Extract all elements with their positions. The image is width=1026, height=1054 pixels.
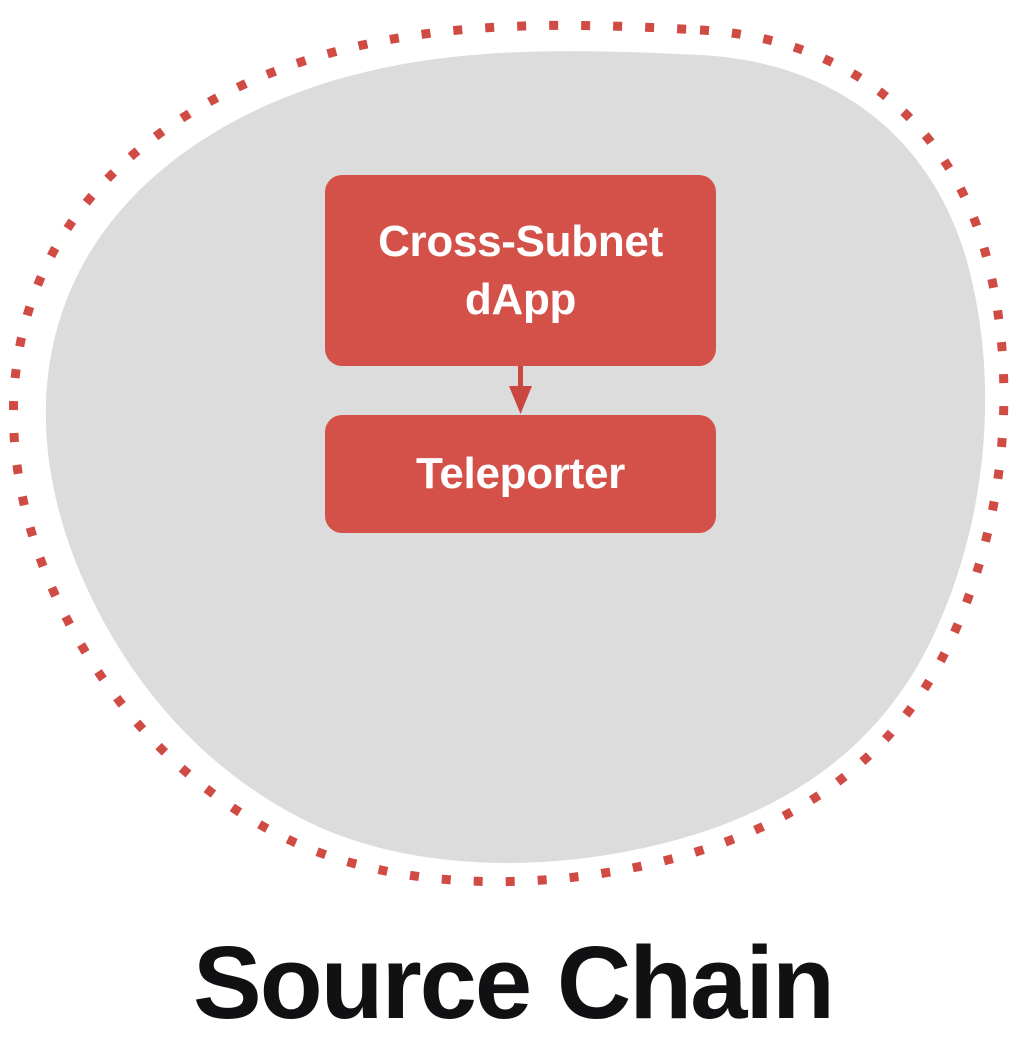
node-cross-subnet-dapp[interactable]: Cross-Subnet dApp [325, 175, 716, 366]
node-cross-subnet-dapp-label: Cross-Subnet dApp [325, 213, 716, 327]
diagram-root: Cross-Subnet dApp Teleporter Source Chai… [0, 0, 1026, 1054]
node-teleporter-label: Teleporter [325, 445, 716, 502]
node-teleporter[interactable]: Teleporter [325, 415, 716, 533]
source-chain-caption: Source Chain [0, 926, 1026, 1039]
